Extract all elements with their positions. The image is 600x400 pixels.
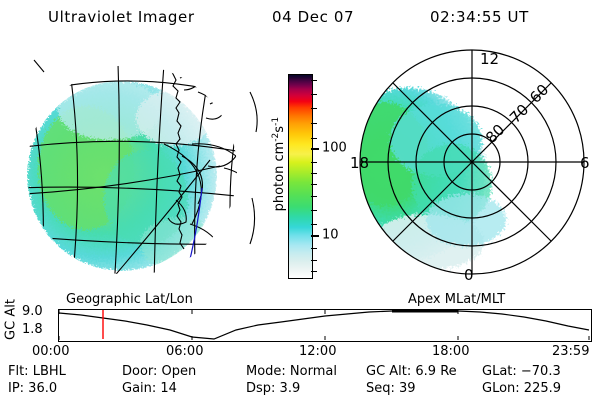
time-axis: 00:00 06:00 12:00 18:00 23:59 xyxy=(0,344,600,360)
status-gcalt: GC Alt: 6.9 Re xyxy=(366,364,457,379)
colorbar-gradient xyxy=(289,75,312,278)
uvi-display: Ultraviolet Imager 04 Dec 07 02:34:55 UT xyxy=(0,0,600,400)
altitude-strip: GC Alt 9.0 1.8 xyxy=(0,306,600,342)
time-tick-4: 23:59 xyxy=(552,344,589,359)
mlt-label-12: 12 xyxy=(480,50,499,68)
colorbar-label-main: photon cm xyxy=(272,142,287,212)
mlt-label-0: 0 xyxy=(464,266,474,284)
status-gain: Gain: 14 xyxy=(122,381,177,396)
status-ip: IP: 36.0 xyxy=(8,381,57,396)
time-tick-2: 12:00 xyxy=(299,344,336,359)
status-glat: GLat: −70.3 xyxy=(482,364,561,379)
status-glon: GLon: 225.9 xyxy=(482,381,561,396)
colorbar-tick-label-10: 10 xyxy=(322,228,339,243)
colorbar-label-exp2: -1 xyxy=(271,117,281,126)
colorbar: photon cm-2s-1 100 10 xyxy=(252,60,352,288)
time-tick-3: 18:00 xyxy=(432,344,469,359)
status-seq: Seq: 39 xyxy=(366,381,416,396)
mlat-label-70: 70 xyxy=(506,101,532,127)
caption-geographic: Geographic Lat/Lon xyxy=(66,292,193,307)
caption-apex: Apex MLat/MLT xyxy=(408,292,505,307)
apex-polar-panel: 12 6 0 18 60 70 80 xyxy=(340,44,596,292)
mlt-label-6: 6 xyxy=(580,154,590,172)
time-tick-1: 06:00 xyxy=(166,344,203,359)
status-door: Door: Open xyxy=(122,364,196,379)
mlt-spokes xyxy=(360,50,584,274)
header: Ultraviolet Imager 04 Dec 07 02:34:55 UT xyxy=(0,4,600,32)
observation-time: 02:34:55 UT xyxy=(430,8,529,26)
colorbar-ticks xyxy=(311,74,319,277)
geographic-globe-svg xyxy=(14,48,264,288)
altitude-plot-svg xyxy=(0,306,600,342)
aurora-emission-right xyxy=(340,88,506,270)
mlt-label-18: 18 xyxy=(350,154,369,172)
instrument-title: Ultraviolet Imager xyxy=(48,8,195,26)
apex-polar-svg: 12 6 0 18 60 70 80 xyxy=(340,44,596,292)
status-block: Flt: LBHL IP: 36.0 Door: Open Gain: 14 M… xyxy=(0,364,600,398)
geographic-globe-panel xyxy=(14,48,264,288)
status-flt: Flt: LBHL xyxy=(8,364,66,379)
colorbar-label-mid: s xyxy=(272,126,287,133)
mlat-label-60: 60 xyxy=(526,81,552,107)
altitude-trace xyxy=(59,311,589,339)
time-tick-0: 00:00 xyxy=(32,344,69,359)
colorbar-axis-label: photon cm-2s-1 xyxy=(271,89,287,239)
status-mode: Mode: Normal xyxy=(246,364,337,379)
colorbar-label-exp1: -2 xyxy=(271,133,281,142)
observation-date: 04 Dec 07 xyxy=(272,8,354,26)
status-dsp: Dsp: 3.9 xyxy=(246,381,300,396)
mlat-label-80: 80 xyxy=(482,121,508,147)
colorbar-gradient-box xyxy=(288,74,313,279)
